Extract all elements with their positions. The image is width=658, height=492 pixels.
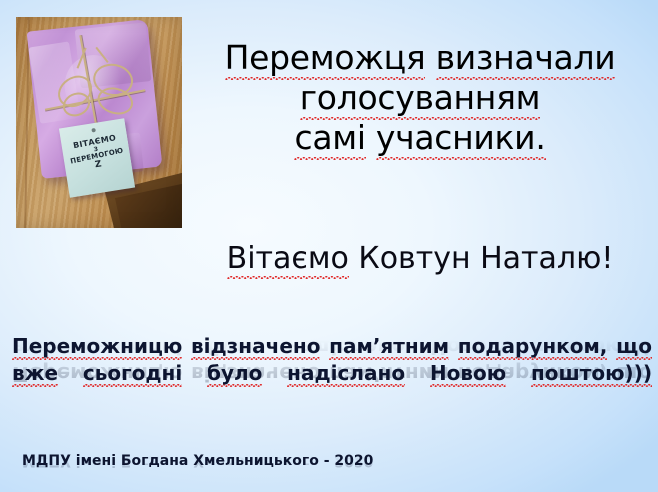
tag-hole [91,127,96,132]
para-word-11: поштою))) [531,361,652,387]
headline-line-2: голосуванням [186,78,654,118]
greeting-word-vitaemo: Вітаємо [227,241,349,279]
para-word-3: пам’ятним [329,334,449,360]
gift-tag: ВІТАЄМО З ПЕРЕМОГОЮ Z [59,118,135,197]
headline-word-peremozhtsya: Переможця [225,38,426,80]
headline-word-vyznachaly: визначали [436,38,616,80]
headline-line-3: самі учасники. [186,118,654,158]
footer-text: МДПУ імені Богдана Хмельницького - 2020 [22,452,373,470]
body-paragraph-block: Переможницю відзначено пам’ятним подарун… [12,333,652,387]
gift-tag-text: ВІТАЄМО З ПЕРЕМОГОЮ Z [61,133,132,175]
headline-word-uchasnyky: учасники. [376,118,546,160]
gift-package-photo[interactable]: ВІТАЄМО З ПЕРЕМОГОЮ Z [16,17,182,228]
para-word-7: сьогодні [83,361,182,387]
headline-line-1: Переможця визначали [186,38,654,78]
para-word-1: Переможницю [12,334,182,360]
footer-block: МДПУ імені Богдана Хмельницького - 2020 … [22,452,373,470]
greeting-line: Вітаємо Ковтун Наталю! [186,240,654,278]
headline-word-holosuvannyam: голосуванням [300,78,540,120]
para-word-9: надіслано [287,361,405,387]
para-word-8: було [207,361,262,387]
greeting-name: Ковтун Наталю! [358,241,613,276]
body-paragraph: Переможницю відзначено пам’ятним подарун… [12,333,652,387]
headline-word-sami: самі [294,118,365,160]
presentation-slide: ВІТАЄМО З ПЕРЕМОГОЮ Z Переможця визначал… [0,0,658,492]
para-word-2: відзначено [191,334,320,360]
slide-headline: Переможця визначали голосуванням самі уч… [186,38,654,158]
para-word-5: що [616,334,652,360]
para-word-6: вже [12,361,58,387]
para-word-10: Новою [430,361,506,387]
para-word-4: подарунком, [458,334,608,360]
